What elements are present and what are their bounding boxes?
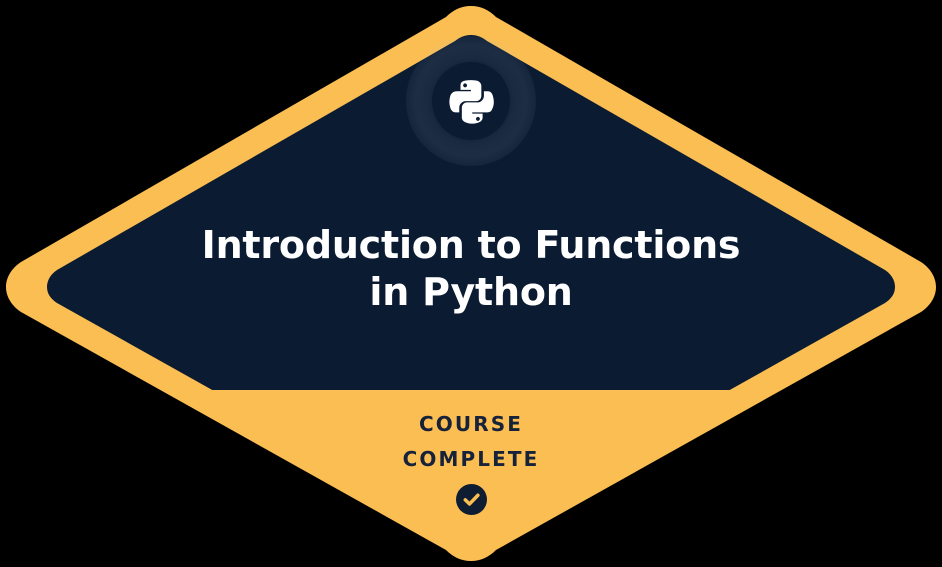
- badge-stage: Introduction to Functions in Python COUR…: [0, 0, 942, 567]
- status-line-1: COURSE: [271, 407, 671, 442]
- badge-icon-wrap: [396, 26, 546, 176]
- status-line-2: COMPLETE: [271, 442, 671, 477]
- status-block: COURSE COMPLETE: [271, 407, 671, 515]
- check-circle-icon: [456, 484, 487, 515]
- page-title: Introduction to Functions in Python: [191, 222, 751, 316]
- python-logo-icon: [447, 77, 495, 125]
